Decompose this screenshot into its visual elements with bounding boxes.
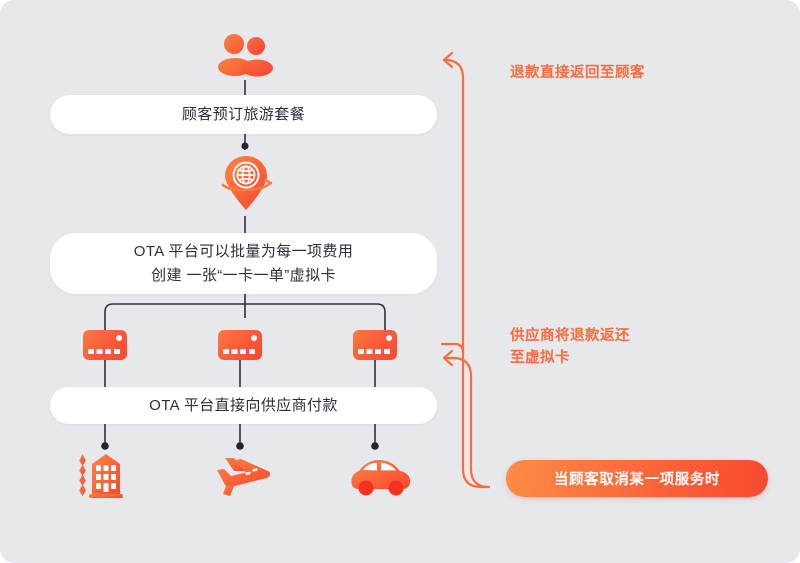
card-number-dashes [88, 349, 122, 354]
two-people-icon [216, 33, 276, 77]
card-number-dashes [223, 349, 257, 354]
flow-box-booking[interactable]: 顾客预订旅游套餐 [50, 95, 437, 134]
cancel-trigger-label: 当顾客取消某一项服务时 [554, 468, 720, 489]
annotation-refund-to-virtual-card: 供应商将退款返还 至虚拟卡 [510, 325, 630, 370]
virtual-card-icon-1 [83, 330, 127, 360]
annotation-refund-to-customer: 退款直接返回至顾客 [510, 62, 645, 84]
cancel-trigger-pill[interactable]: 当顾客取消某一项服务时 [506, 460, 768, 497]
card-number-dashes [358, 349, 392, 354]
flow-box-virtual-card-line2: 创建 一张“一卡一单”虚拟卡 [134, 264, 353, 287]
virtual-card-icon-2 [218, 330, 262, 360]
flow-box-payment-label: OTA 平台直接向供应商付款 [149, 394, 338, 417]
flow-box-payment[interactable]: OTA 平台直接向供应商付款 [50, 387, 437, 424]
flow-box-booking-label: 顾客预订旅游套餐 [182, 103, 305, 126]
diagram-canvas: 顾客预订旅游套餐 OTA 平台可以批量为每一项费用 创建 一张“一卡一单”虚拟卡… [0, 0, 800, 563]
car-icon [348, 455, 412, 497]
flow-box-virtual-card-line1: OTA 平台可以批量为每一项费用 [134, 240, 353, 263]
hotel-building-icon [78, 452, 132, 498]
virtual-card-icon-3 [353, 330, 397, 360]
card-chip-dot-icon [386, 335, 392, 341]
flow-box-virtual-card[interactable]: OTA 平台可以批量为每一项费用 创建 一张“一卡一单”虚拟卡 [50, 233, 437, 294]
globe-location-pin-icon [215, 152, 277, 214]
card-chip-dot-icon [116, 335, 122, 341]
card-chip-dot-icon [251, 335, 257, 341]
airplane-icon [210, 452, 272, 498]
